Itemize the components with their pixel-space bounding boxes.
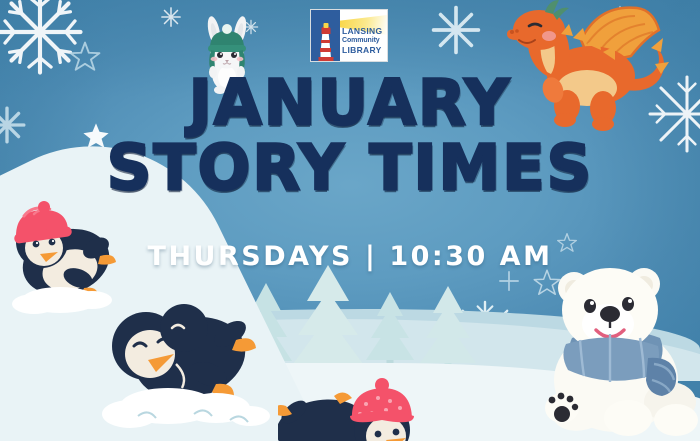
logo-lighthouse-panel bbox=[311, 10, 340, 61]
bunny-character bbox=[196, 14, 258, 94]
subtitle-time: 10:30 AM bbox=[389, 241, 552, 272]
dragon-character bbox=[495, 0, 685, 139]
subtitle-day: THURSDAYS bbox=[148, 241, 353, 272]
logo-text-panel: LANSING Community LIBRARY bbox=[340, 10, 387, 61]
lighthouse-icon bbox=[320, 32, 331, 58]
pine-tree bbox=[416, 275, 480, 371]
lighthouse-roof bbox=[321, 27, 330, 34]
lighthouse-base bbox=[318, 57, 333, 61]
logo-line-community: Community bbox=[342, 37, 386, 44]
story-time-poster: LANSING Community LIBRARY bbox=[0, 0, 700, 441]
penguin-pair-character bbox=[98, 288, 274, 438]
polar-bear-character bbox=[540, 252, 700, 441]
lighthouse-lamp bbox=[323, 23, 328, 28]
penguin-pink-hat-character bbox=[278, 372, 418, 441]
library-logo[interactable]: LANSING Community LIBRARY bbox=[310, 9, 388, 62]
logo-line-library: LIBRARY bbox=[342, 46, 386, 55]
subtitle-separator: | bbox=[353, 241, 389, 272]
pine-tree bbox=[362, 283, 418, 367]
logo-line-lansing: LANSING bbox=[342, 27, 386, 36]
